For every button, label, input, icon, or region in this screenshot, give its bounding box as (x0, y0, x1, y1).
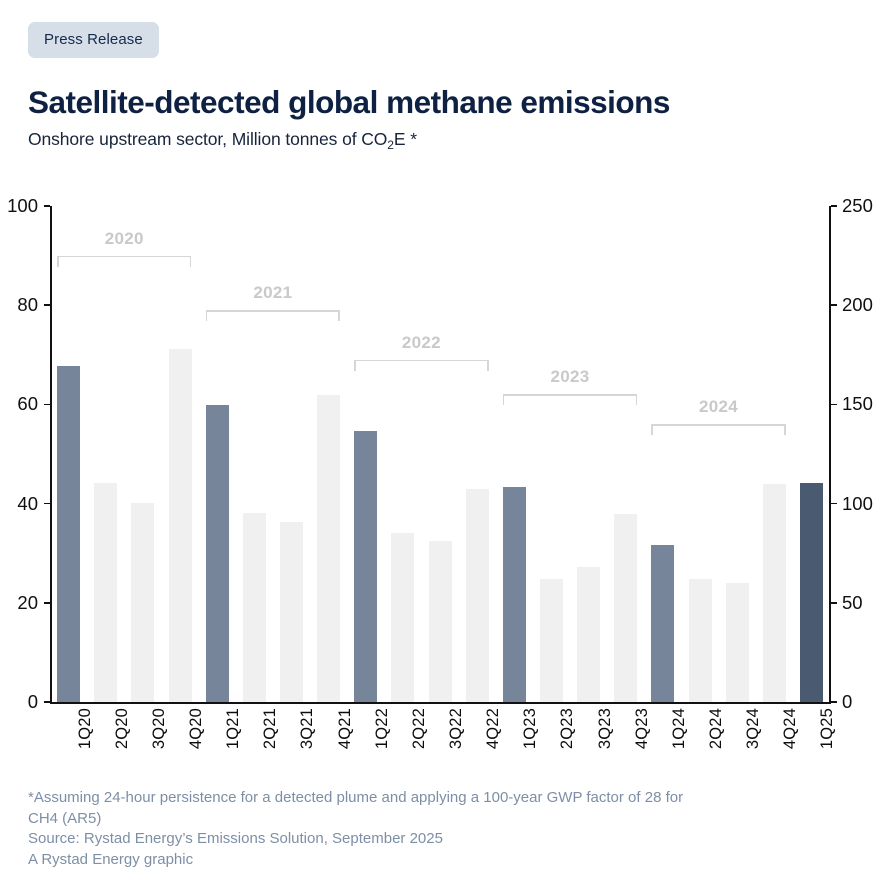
bracket-cap-right (784, 424, 786, 435)
year-bracket-label: 2021 (206, 283, 340, 303)
x-label-3q20: 3Q20 (150, 708, 169, 749)
y-tick-label-right: 50 (842, 594, 863, 613)
subtitle-pre: Onshore upstream sector, Million tonnes … (28, 129, 387, 149)
y-tick-right (831, 404, 837, 406)
bar-series (50, 206, 830, 702)
y-tick-label-right: 0 (842, 693, 852, 712)
bar-4q21 (317, 395, 340, 702)
y-tick-label-left: 0 (28, 693, 38, 712)
y-tick-label-right: 200 (842, 296, 873, 315)
x-label-3q23: 3Q23 (596, 708, 615, 749)
bracket-cap-left (57, 256, 59, 267)
x-label-2q22: 2Q22 (410, 708, 429, 749)
bar-1q24 (651, 545, 674, 702)
y-tick-right (831, 503, 837, 505)
bracket-cap-right (636, 394, 638, 405)
bar-4q23 (614, 514, 637, 702)
x-axis-labels: 1Q202Q203Q204Q201Q212Q213Q214Q211Q222Q22… (50, 708, 830, 798)
bracket-cap-left (206, 310, 208, 321)
bar-1q21 (206, 405, 229, 702)
y-tick-label-right: 250 (842, 197, 873, 216)
bar-2q21 (243, 513, 266, 702)
x-label-1q24: 1Q24 (670, 708, 689, 749)
bracket-top-line (503, 394, 637, 396)
x-label-4q23: 4Q23 (633, 708, 652, 749)
x-label-1q23: 1Q23 (521, 708, 540, 749)
x-label-3q21: 3Q21 (298, 708, 317, 749)
bracket-cap-left (651, 424, 653, 435)
x-label-3q24: 3Q24 (744, 708, 763, 749)
bracket-cap-right (487, 360, 489, 371)
bracket-cap-left (354, 360, 356, 371)
x-label-1q22: 1Q22 (373, 708, 392, 749)
x-label-2q23: 2Q23 (558, 708, 577, 749)
x-label-1q25: 1Q25 (818, 708, 837, 749)
y-tick-right (831, 602, 837, 604)
plot-area: 020406080100 050100150200250 20202021202… (50, 206, 830, 702)
bar-3q21 (280, 522, 303, 702)
chart-container: 020406080100 050100150200250 20202021202… (0, 196, 893, 776)
x-label-2q20: 2Q20 (113, 708, 132, 749)
bar-3q22 (429, 541, 452, 702)
y-tick-label-right: 100 (842, 495, 873, 514)
page-subtitle: Onshore upstream sector, Million tonnes … (28, 129, 893, 150)
footnote-line-1: *Assuming 24-hour persistence for a dete… (28, 788, 873, 809)
bar-3q23 (577, 567, 600, 702)
bracket-top-line (57, 256, 191, 258)
credit-line: A Rystad Energy graphic (28, 850, 873, 871)
x-label-1q21: 1Q21 (224, 708, 243, 749)
bar-2q20 (94, 483, 117, 702)
x-label-3q22: 3Q22 (447, 708, 466, 749)
bar-1q20 (57, 366, 80, 702)
bar-3q24 (726, 583, 749, 702)
source-line: Source: Rystad Energy’s Emissions Soluti… (28, 829, 873, 850)
bar-3q20 (131, 503, 154, 702)
bracket-cap-left (503, 394, 505, 405)
bar-4q24 (763, 484, 786, 702)
y-tick-label-left: 40 (17, 495, 38, 514)
bracket-cap-right (190, 256, 192, 267)
subtitle-post: E * (394, 129, 417, 149)
year-bracket-label: 2022 (354, 333, 488, 353)
y-tick-right (831, 701, 837, 703)
x-label-2q21: 2Q21 (261, 708, 280, 749)
x-label-4q24: 4Q24 (781, 708, 800, 749)
bracket-cap-right (338, 310, 340, 321)
page-title: Satellite-detected global methane emissi… (28, 85, 893, 120)
footnote-line-2: CH4 (AR5) (28, 809, 873, 830)
x-label-4q20: 4Q20 (187, 708, 206, 749)
x-axis-line (50, 702, 831, 704)
bar-4q22 (466, 489, 489, 702)
x-label-4q22: 4Q22 (484, 708, 503, 749)
year-bracket-label: 2020 (57, 229, 191, 249)
y-tick-label-left: 20 (17, 594, 38, 613)
x-label-1q20: 1Q20 (76, 708, 95, 749)
x-label-4q21: 4Q21 (336, 708, 355, 749)
bracket-top-line (206, 310, 340, 312)
bar-2q24 (689, 579, 712, 702)
press-release-badge: Press Release (28, 22, 159, 58)
y-tick-label-left: 60 (17, 395, 38, 414)
x-label-2q24: 2Q24 (707, 708, 726, 749)
y-tick-label-left: 80 (17, 296, 38, 315)
y-tick-right (831, 304, 837, 306)
y-tick-right (831, 205, 837, 207)
footnotes: *Assuming 24-hour persistence for a dete… (28, 788, 873, 871)
y-tick-label-left: 100 (7, 197, 38, 216)
year-bracket-label: 2024 (651, 397, 785, 417)
bar-4q20 (169, 349, 192, 702)
page-header: Press Release Satellite-detected global … (0, 0, 893, 150)
bar-2q22 (391, 533, 414, 702)
bar-1q25 (800, 483, 823, 702)
bar-1q22 (354, 431, 377, 702)
bracket-top-line (651, 424, 785, 426)
y-tick-label-right: 150 (842, 395, 873, 414)
bracket-top-line (354, 360, 488, 362)
year-bracket-label: 2023 (503, 367, 637, 387)
bar-1q23 (503, 487, 526, 702)
subtitle-subscript: 2 (387, 138, 394, 152)
bar-2q23 (540, 579, 563, 702)
